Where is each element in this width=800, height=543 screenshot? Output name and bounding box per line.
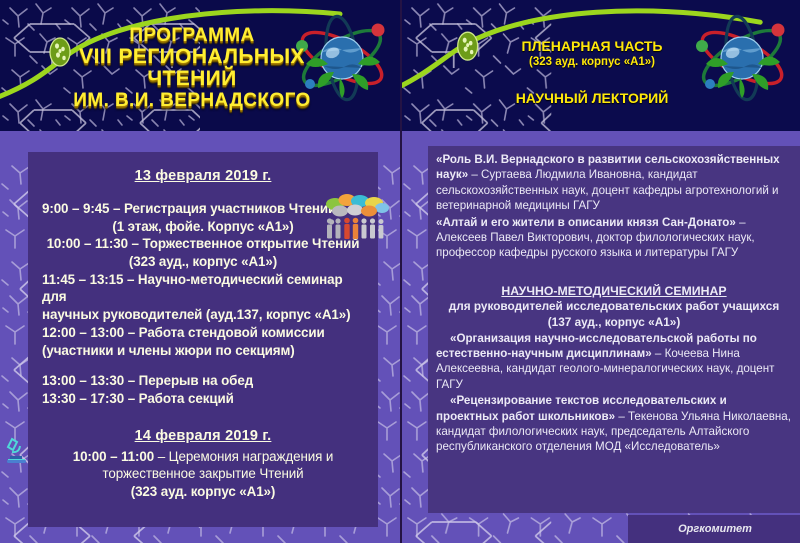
footer-strip: Оргкомитет — [628, 515, 800, 543]
seminar-heading: НАУЧНО-МЕТОДИЧЕСКИЙ СЕМИНАР — [436, 283, 792, 299]
day2-line-1: 10:00 – 11:00 – Церемония награждения и — [36, 448, 370, 466]
day2-line-2: торжественное закрытие Чтений — [36, 465, 370, 483]
plenary-title: ПЛЕНАРНАЯ ЧАСТЬ — [480, 38, 704, 54]
day2-desc: – Церемония награждения и — [154, 449, 333, 464]
programme-line: 9:00 – 9:45 – Регистрация участников Чте… — [36, 200, 370, 218]
lecture-item: «Роль В.И. Вернадского в развитии сельск… — [436, 152, 792, 214]
programme-line: (323 ауд., корпус «А1») — [36, 253, 370, 271]
left-title-block: ПРОГРАММА VIII РЕГИОНАЛЬНЫХ ЧТЕНИЙ ИМ. В… — [48, 26, 336, 111]
programme-line: 10:00 – 11:30 – Торжественное открытие Ч… — [36, 235, 370, 253]
programme-line: 13:30 – 17:30 – Работа секций — [36, 390, 370, 408]
lecture-subtitle: НАУЧНЫЙ ЛЕКТОРИЙ — [480, 90, 704, 106]
presentation-slides: ПРОГРАММА VIII РЕГИОНАЛЬНЫХ ЧТЕНИЙ ИМ. В… — [0, 0, 800, 543]
day1-date: 13 февраля 2019 г. — [36, 168, 370, 184]
programme-line: научных руководителей (ауд.137, корпус «… — [36, 306, 370, 324]
right-header-text: ПЛЕНАРНАЯ ЧАСТЬ (323 ауд. корпус «А1») Н… — [480, 38, 704, 106]
plenary-room: (323 ауд. корпус «А1») — [480, 56, 704, 68]
day2-date: 14 февраля 2019 г. — [36, 428, 370, 444]
people-discussion-icon — [324, 192, 390, 240]
seminar-sub-2: (137 ауд., корпус «А1») — [436, 315, 792, 331]
slide-programme: ПРОГРАММА VIII РЕГИОНАЛЬНЫХ ЧТЕНИЙ ИМ. В… — [0, 0, 400, 543]
footer-label: Оргкомитет — [678, 523, 752, 535]
programme-line: 12:00 – 13:00 – Работа стендовой комисси… — [36, 324, 370, 342]
seminar-sub-1: для руководителей исследовательских рабо… — [436, 299, 792, 315]
title-line-1: ПРОГРАММА — [48, 26, 336, 46]
programme-line: (1 этаж, фойе. Корпус «А1») — [36, 218, 370, 236]
day2-time: 10:00 – 11:00 — [73, 449, 154, 464]
lecture-speaker: – Суртаева Людмила Ивановна, кандидат се… — [436, 168, 779, 212]
left-mid-band — [0, 131, 400, 153]
seminar-item: «Организация научно-исследовательской ра… — [436, 331, 792, 393]
lecture-item: «Алтай и его жители в описании князя Сан… — [436, 215, 792, 261]
programme-text: 13 февраля 2019 г. 9:00 – 9:45 – Регистр… — [36, 168, 370, 501]
programme-line: 11:45 – 13:15 – Научно-методический семи… — [36, 271, 370, 306]
title-line-3: ИМ. В.И. ВЕРНАДСКОГО — [48, 91, 336, 111]
lecture-title: «Алтай и его жители в описании князя Сан… — [436, 216, 736, 229]
atom-icon — [688, 2, 796, 120]
slide-plenary: ПЛЕНАРНАЯ ЧАСТЬ (323 ауд. корпус «А1») Н… — [400, 0, 800, 543]
title-line-2: VIII РЕГИОНАЛЬНЫХ ЧТЕНИЙ — [48, 46, 336, 91]
microscope-icon — [4, 435, 30, 465]
day2-line-3: (323 ауд. корпус «А1») — [36, 483, 370, 501]
plenary-body: «Роль В.И. Вернадского в развитии сельск… — [436, 152, 792, 455]
seminar-item: «Рецензирование текстов исследовательски… — [436, 393, 792, 455]
programme-line: 13:00 – 13:30 – Перерыв на обед — [36, 372, 370, 390]
programme-line: (участники и члены жюри по секциям) — [36, 342, 370, 360]
right-content-box: «Роль В.И. Вернадского в развитии сельск… — [428, 146, 800, 513]
